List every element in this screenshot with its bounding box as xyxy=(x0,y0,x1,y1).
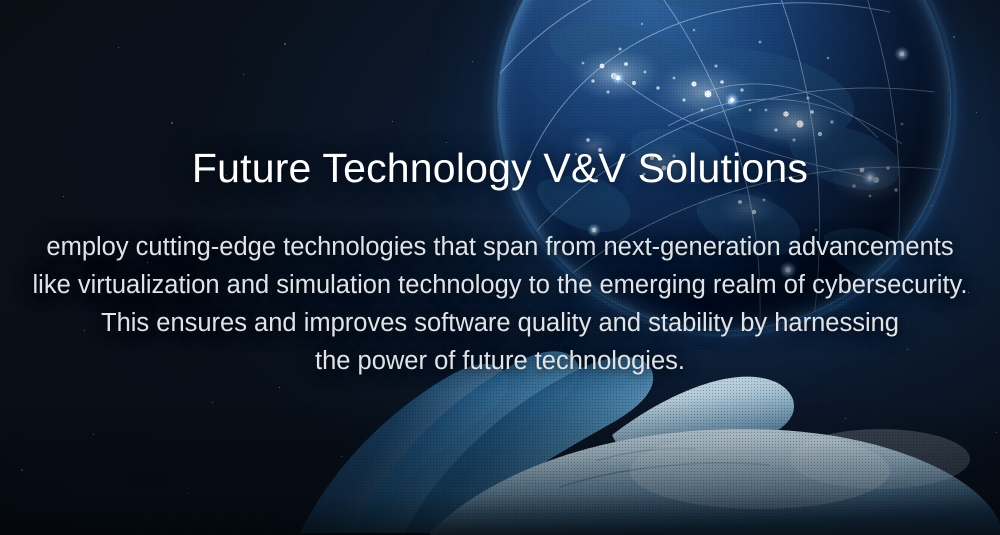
page-title: Future Technology V&V Solutions xyxy=(0,146,1000,192)
hero-content: Future Technology V&V Solutions employ c… xyxy=(0,0,1000,535)
description-line-2: like virtualization and simulation techn… xyxy=(0,266,1000,304)
description-line-1: employ cutting-edge technologies that sp… xyxy=(0,228,1000,266)
hero-description: employ cutting-edge technologies that sp… xyxy=(0,228,1000,380)
description-line-3: This ensures and improves software quali… xyxy=(0,304,1000,342)
description-line-4: the power of future technologies. xyxy=(0,342,1000,380)
hero-banner: Future Technology V&V Solutions employ c… xyxy=(0,0,1000,535)
